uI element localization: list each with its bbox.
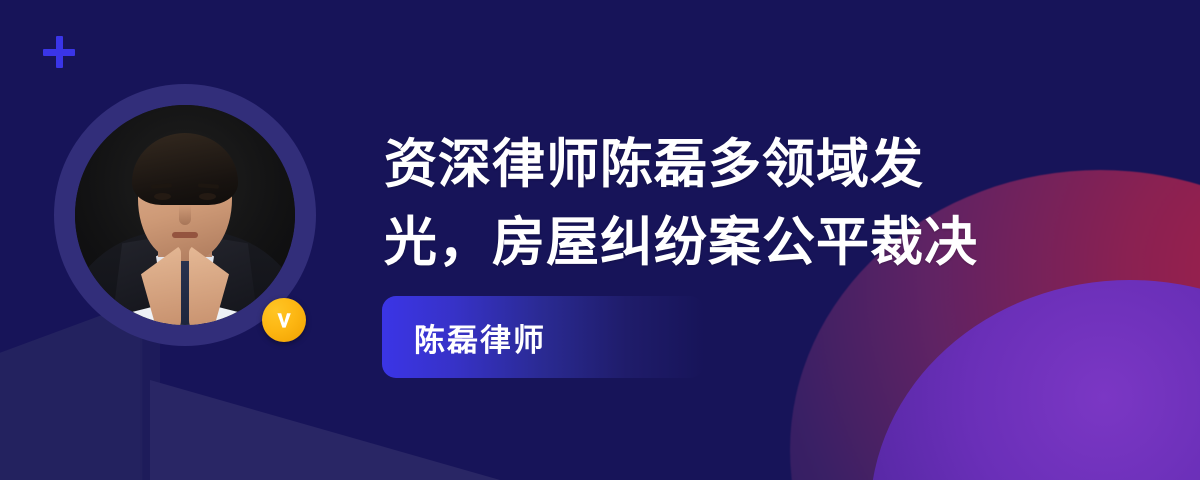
author-chip[interactable]: 陈磊律师: [382, 296, 704, 378]
page-title: 资深律师陈磊多领域发 光，房屋纠纷案公平裁决: [384, 126, 1084, 282]
background-blob-purple: [870, 280, 1200, 480]
plus-icon: [43, 36, 75, 68]
verified-check-icon[interactable]: [262, 298, 306, 342]
avatar-photo: [75, 105, 295, 325]
author-name-label: 陈磊律师: [414, 315, 546, 360]
article-banner: 资深律师陈磊多领域发 光，房屋纠纷案公平裁决 陈磊律师: [0, 0, 1200, 480]
background-polygon-middle: [150, 380, 570, 480]
